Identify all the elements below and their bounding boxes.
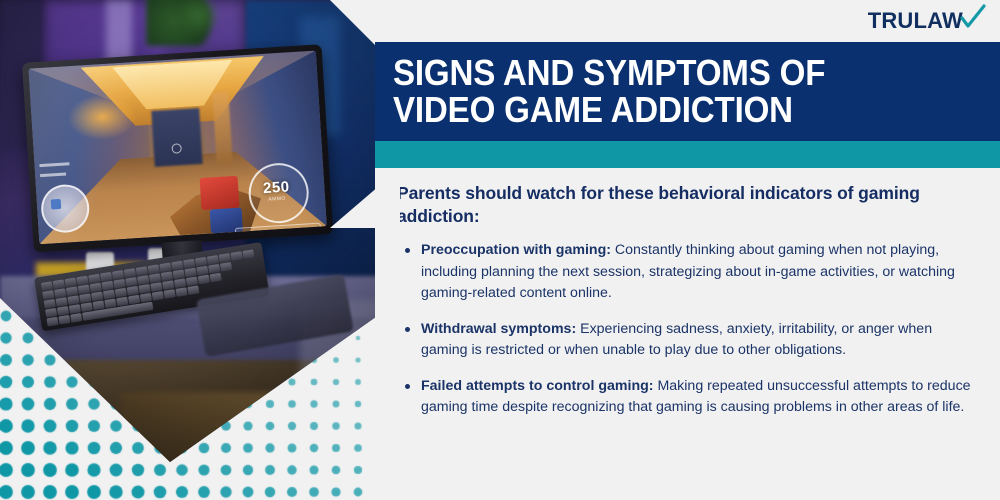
content-panel: Parents should watch for these behaviora… xyxy=(375,168,1000,500)
list-item: Preoccupation with gaming: Constantly th… xyxy=(397,240,977,305)
bullet-dot-icon xyxy=(405,384,410,389)
bullet-dot-icon xyxy=(405,327,410,332)
trulaw-logo[interactable]: TRULAW xyxy=(868,6,986,36)
teal-accent-bar xyxy=(375,141,1000,168)
logo-wordmark: TRULAW xyxy=(868,10,963,32)
bullet-dot-icon xyxy=(405,248,410,253)
list-item-lead: Withdrawal symptoms: xyxy=(421,321,576,337)
list-item: Failed attempts to control gaming: Makin… xyxy=(397,376,977,419)
list-item-lead: Failed attempts to control gaming: xyxy=(421,378,654,394)
infographic-canvas: 250 AMMO TRULAW xyxy=(0,0,1000,500)
list-item-text: Preoccupation with gaming: Constantly th… xyxy=(421,240,977,305)
left-collage: 250 AMMO xyxy=(0,0,400,500)
title-banner: Signs and Symptoms of Video Game Addicti… xyxy=(375,42,1000,141)
list-item: Withdrawal symptoms: Experiencing sadnes… xyxy=(397,319,977,362)
checkmark-icon xyxy=(960,8,986,34)
subtitle: Parents should watch for these behaviora… xyxy=(397,182,975,228)
list-item-text: Failed attempts to control gaming: Makin… xyxy=(421,376,977,419)
page-title: Signs and Symptoms of Video Game Addicti… xyxy=(393,54,927,128)
list-item-text: Withdrawal symptoms: Experiencing sadnes… xyxy=(421,319,977,362)
symptom-list: Preoccupation with gaming: Constantly th… xyxy=(397,240,977,433)
list-item-lead: Preoccupation with gaming: xyxy=(421,242,611,258)
